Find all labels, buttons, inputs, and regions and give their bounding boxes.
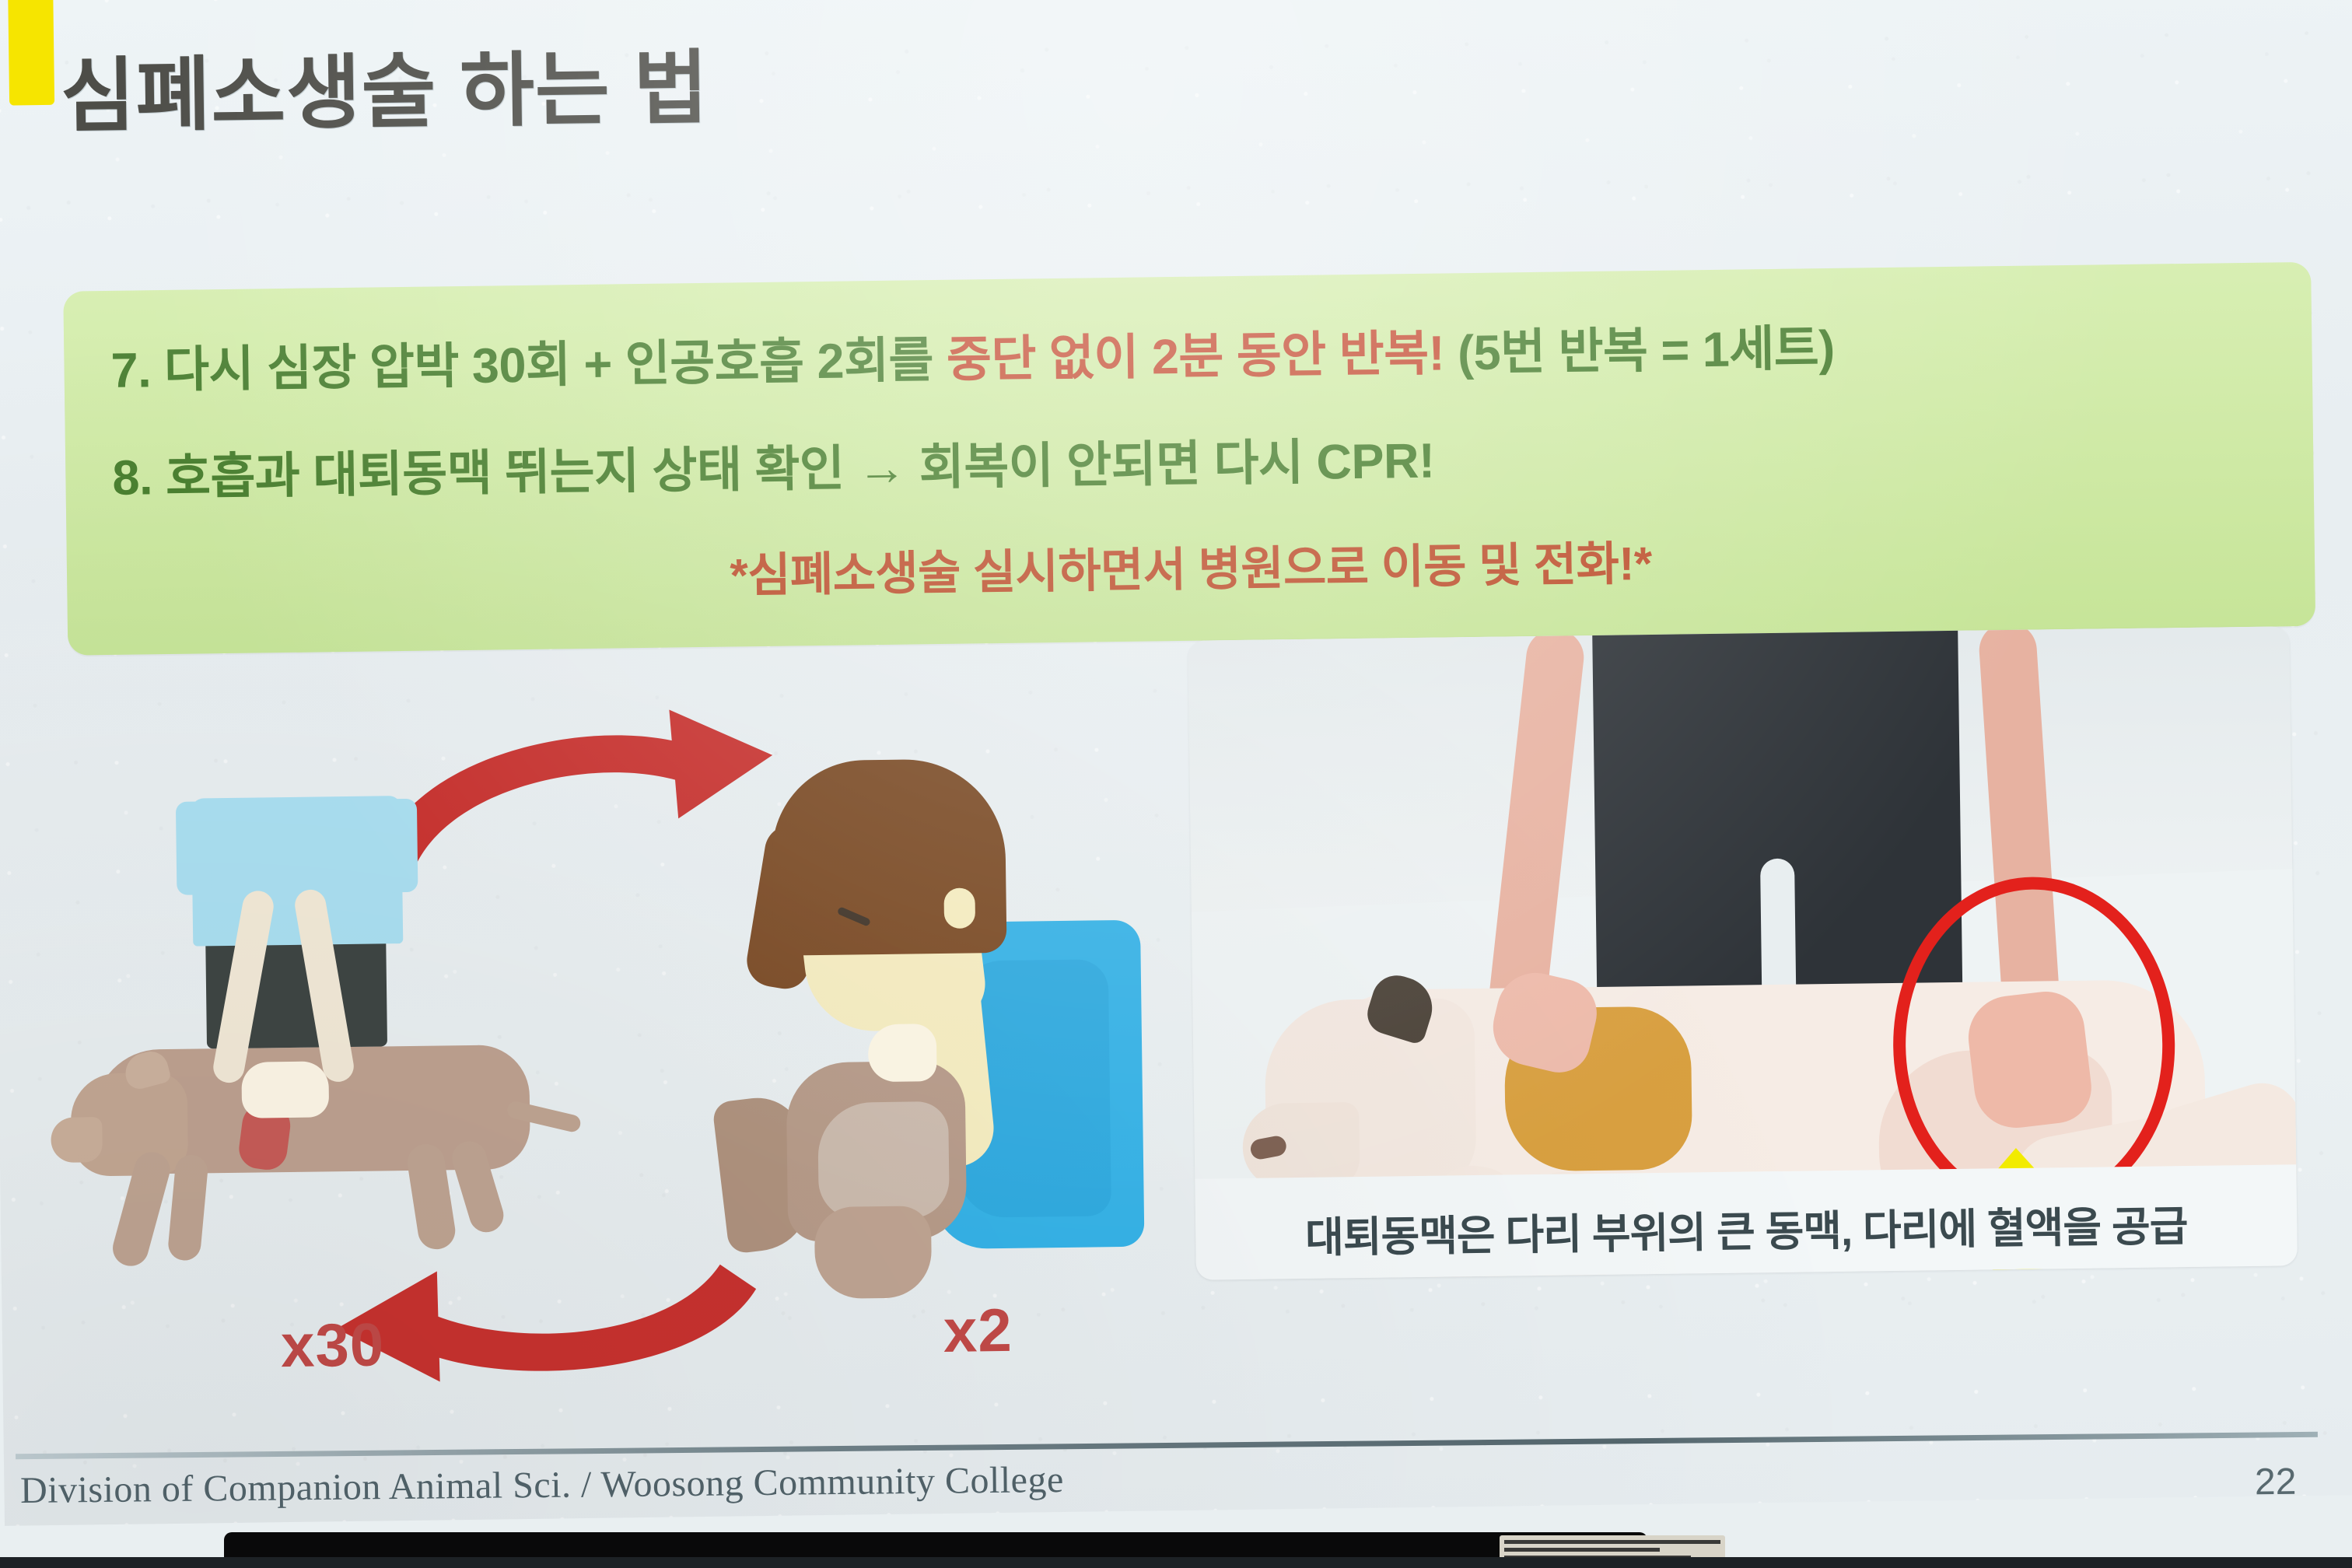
- step-7-plain-after: (5번 반복 = 1세트): [1444, 321, 1836, 381]
- dog-chin-breath-scene: [814, 1206, 933, 1299]
- dog-snout-illustration: [51, 1117, 103, 1163]
- page-number: 22: [2254, 1461, 2296, 1504]
- scene-chest-compressions: x30: [73, 793, 639, 1297]
- slide-surface: 심폐소생술 하는 법 7. 다시 심장 압박 30회 + 인공호흡 2회를 중단…: [0, 0, 2352, 1526]
- rescuer-ear: [943, 887, 975, 929]
- femoral-artery-photo: 대퇴동맥은 다리 부위의 큰 동맥, 다리에 혈액을 공급: [1188, 626, 2298, 1279]
- slide-photograph: 심폐소생술 하는 법 7. 다시 심장 압박 30회 + 인공호흡 2회를 중단…: [0, 0, 2352, 1568]
- screen-lower-edge: [0, 1557, 2352, 1568]
- rescuer-hand-on-muzzle: [868, 1024, 937, 1082]
- title-accent-bar: [8, 0, 54, 106]
- instruction-step-7: 7. 다시 심장 압박 30회 + 인공호흡 2회를 중단 없이 2분 동안 반…: [110, 309, 1835, 402]
- dog-snout-breath-scene: [817, 1101, 950, 1220]
- step-7-emphasis: 중단 없이 2분 동안 반복!: [947, 326, 1445, 387]
- rescuer-hands: [241, 1061, 329, 1118]
- instruction-step-8: 8. 호흡과 대퇴동맥 뛰는지 상태 확인 → 회복이 안되면 다시 CPR!: [112, 422, 1435, 509]
- instruction-note: *심폐소생술 실시하면서 병원으로 이동 및 전화!*: [67, 517, 2315, 614]
- compression-count-label: x30: [280, 1309, 384, 1381]
- scene-rescue-breaths: x2: [679, 756, 1168, 1322]
- rescuer-hair: [771, 758, 1006, 956]
- breath-count-label: x2: [943, 1295, 1013, 1367]
- instruction-callout-box: 7. 다시 심장 압박 30회 + 인공호흡 2회를 중단 없이 2분 동안 반…: [63, 262, 2315, 656]
- cpr-cycle-illustration: x30 x2: [25, 647, 1170, 1409]
- step-7-plain-before: 7. 다시 심장 압박 30회 + 인공호흡 2회를: [110, 333, 947, 398]
- page-title: 심폐소생술 하는 법: [60, 22, 709, 148]
